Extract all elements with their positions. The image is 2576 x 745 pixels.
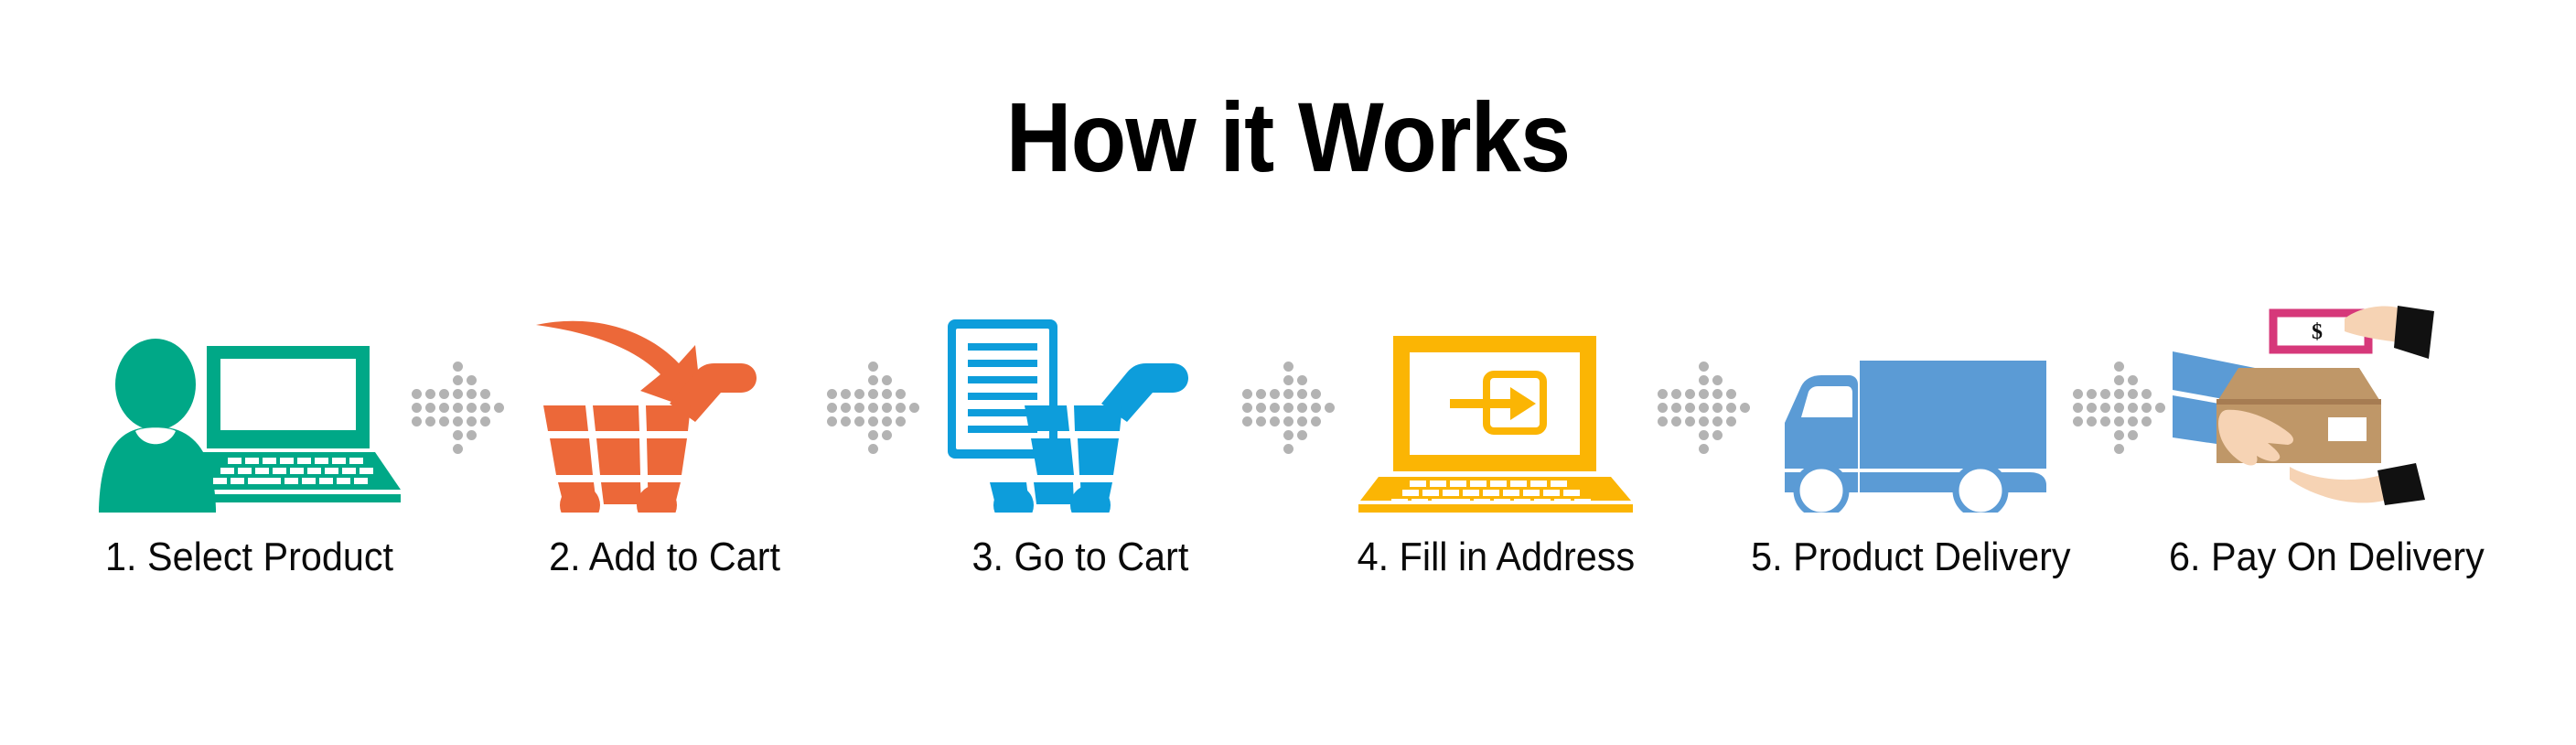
- step-3-icon-box: [907, 302, 1254, 513]
- step-2-add-to-cart[interactable]: 2. Add to Cart: [491, 302, 839, 578]
- step-1-select-product[interactable]: 1. Select Product: [76, 302, 424, 578]
- step-6-pay-on-delivery[interactable]: $: [2152, 302, 2500, 578]
- page-title: How it Works: [1006, 88, 1570, 187]
- step-6-label: 6. Pay On Delivery: [2169, 536, 2485, 578]
- step-4-fill-in-address[interactable]: 4. Fill in Address: [1322, 302, 1669, 578]
- delivery-truck-icon: [1765, 339, 2057, 513]
- step-3-label: 3. Go to Cart: [972, 536, 1189, 578]
- step-5-icon-box: [1737, 302, 2085, 513]
- laptop-with-login-arrow-icon: [1358, 334, 1633, 513]
- separator-2: [839, 302, 907, 513]
- document-and-cart-icon: [948, 316, 1213, 513]
- person-at-laptop-icon: [99, 339, 401, 513]
- shopping-cart-with-arrow-icon: [532, 316, 798, 513]
- separator-3: [1254, 302, 1322, 513]
- step-2-icon-box: [491, 302, 839, 513]
- step-5-product-delivery[interactable]: 5. Product Delivery: [1737, 302, 2085, 578]
- step-3-go-to-cart[interactable]: 3. Go to Cart: [907, 302, 1254, 578]
- step-6-icon-box: $: [2152, 302, 2500, 513]
- step-2-label: 2. Add to Cart: [550, 536, 781, 578]
- separator-1: [424, 302, 491, 513]
- step-4-icon-box: [1322, 302, 1669, 513]
- svg-text:$: $: [2312, 320, 2323, 344]
- how-it-works-infographic: How it Works: [0, 0, 2576, 745]
- step-5-label: 5. Product Delivery: [1751, 536, 2070, 578]
- step-1-icon-box: [76, 302, 424, 513]
- hands-exchanging-box-and-cash-icon: $: [2171, 302, 2482, 513]
- separator-4: [1669, 302, 1737, 513]
- step-4-label: 4. Fill in Address: [1357, 536, 1634, 578]
- title-container: How it Works: [0, 88, 2576, 187]
- step-1-label: 1. Select Product: [106, 536, 394, 578]
- separator-5: [2085, 302, 2152, 513]
- steps-row: 1. Select Product: [0, 302, 2576, 668]
